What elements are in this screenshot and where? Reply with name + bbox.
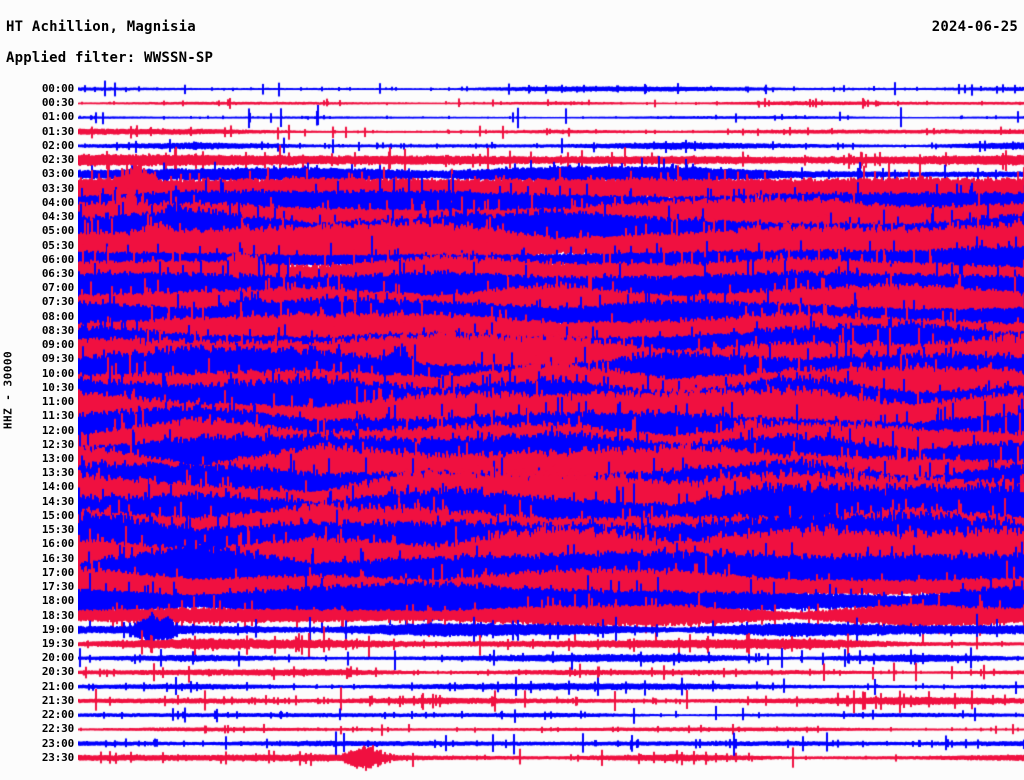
time-tick-label: 20:30	[42, 666, 74, 677]
time-tick-label: 14:30	[42, 496, 74, 507]
time-tick-label: 16:30	[42, 553, 74, 564]
time-tick-label: 19:30	[42, 638, 74, 649]
time-tick-label: 19:00	[42, 624, 74, 635]
time-tick-label: 12:00	[42, 425, 74, 436]
time-tick-label: 13:00	[42, 453, 74, 464]
time-tick-label: 16:00	[42, 538, 74, 549]
time-tick-label: 11:30	[42, 410, 74, 421]
time-tick-label: 01:00	[42, 111, 74, 122]
time-tick-label: 18:30	[42, 610, 74, 621]
time-tick-label: 06:30	[42, 268, 74, 279]
time-tick-label: 10:00	[42, 368, 74, 379]
time-tick-label: 18:00	[42, 595, 74, 606]
time-tick-label: 13:30	[42, 467, 74, 478]
time-tick-label: 20:00	[42, 652, 74, 663]
time-tick-label: 05:00	[42, 225, 74, 236]
time-tick-label: 15:30	[42, 524, 74, 535]
time-tick-label: 22:00	[42, 709, 74, 720]
time-tick-label: 17:30	[42, 581, 74, 592]
time-tick-label: 02:30	[42, 154, 74, 165]
channel-axis-label: HHZ - 30000	[0, 0, 16, 780]
helicorder-plot: 00:0000:3001:0001:3002:0002:3003:0003:30…	[16, 80, 1024, 780]
time-tick-label: 07:00	[42, 282, 74, 293]
station-title: HT Achillion, Magnisia	[6, 20, 196, 34]
time-tick-label: 10:30	[42, 382, 74, 393]
time-tick-label: 08:30	[42, 325, 74, 336]
time-tick-label: 22:30	[42, 723, 74, 734]
time-tick-label: 04:00	[42, 197, 74, 208]
seismogram-page: HT Achillion, Magnisia Applied filter: W…	[0, 0, 1024, 780]
time-tick-label: 21:30	[42, 695, 74, 706]
time-axis: 00:0000:3001:0001:3002:0002:3003:0003:30…	[16, 80, 74, 780]
channel-axis-label-text: HHZ - 30000	[2, 351, 15, 429]
time-tick-label: 11:00	[42, 396, 74, 407]
applied-filter-label: Applied filter: WWSSN-SP	[6, 51, 213, 65]
time-tick-label: 09:30	[42, 353, 74, 364]
time-tick-label: 15:00	[42, 510, 74, 521]
time-tick-label: 01:30	[42, 126, 74, 137]
time-tick-label: 06:00	[42, 254, 74, 265]
time-tick-label: 05:30	[42, 240, 74, 251]
time-tick-label: 03:00	[42, 168, 74, 179]
time-tick-label: 17:00	[42, 567, 74, 578]
time-tick-label: 08:00	[42, 311, 74, 322]
time-tick-label: 00:30	[42, 97, 74, 108]
time-tick-label: 23:30	[42, 752, 74, 763]
time-tick-label: 21:00	[42, 681, 74, 692]
time-tick-label: 00:00	[42, 83, 74, 94]
time-tick-label: 23:00	[42, 738, 74, 749]
time-tick-label: 12:30	[42, 439, 74, 450]
time-tick-label: 02:00	[42, 140, 74, 151]
time-tick-label: 07:30	[42, 296, 74, 307]
seismogram-traces	[78, 80, 1024, 780]
record-date: 2024-06-25	[932, 20, 1018, 34]
time-tick-label: 04:30	[42, 211, 74, 222]
time-tick-label: 09:00	[42, 339, 74, 350]
time-tick-label: 03:30	[42, 183, 74, 194]
time-tick-label: 14:00	[42, 481, 74, 492]
